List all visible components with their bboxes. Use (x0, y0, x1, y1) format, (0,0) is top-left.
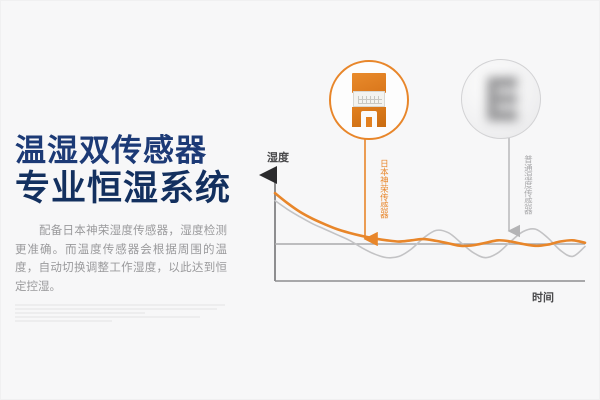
fineprint-line (15, 308, 217, 310)
fineprint-line (15, 316, 200, 318)
headline-line-1: 温湿双传感器 (15, 135, 253, 168)
sensor-photo-bubble (329, 60, 409, 140)
series-line-shinyei-sensor (275, 193, 585, 246)
pcb-top-section (352, 73, 386, 93)
poster-canvas: 温湿双传感器 专业恒湿系统 配备日本神荣湿度传感器，湿度检测更准确。而温度传感器… (0, 0, 600, 400)
x-axis-label: 时间 (532, 289, 554, 305)
ordinary-sensor-bubble (461, 59, 541, 139)
sensor-grid-icon (358, 96, 382, 104)
callout-label-ordinary-sensor: 普通湿度传感器 (523, 155, 533, 215)
humidity-chart: 湿度 时间 日本神荣传感器 普通湿度传感器 (253, 41, 597, 341)
shinyei-sensor-photo (352, 73, 386, 127)
fineprint-line (15, 304, 225, 306)
body-paragraph-text: 配备日本神荣湿度传感器，湿度检测更准确。而温度传感器会根据周围的温度，自动切换调… (15, 225, 227, 293)
series-line-ordinary-sensor (275, 201, 585, 258)
pcb-bottom-section (352, 107, 386, 127)
fineprint-block (15, 304, 225, 322)
ordinary-sensor-photo (487, 77, 517, 121)
fineprint-line (15, 320, 112, 322)
fineprint-line (15, 312, 145, 314)
marketing-copy-block: 温湿双传感器 专业恒湿系统 配备日本神荣湿度传感器，湿度检测更准确。而温度传感器… (15, 135, 253, 324)
y-axis-label: 湿度 (267, 149, 289, 165)
body-paragraph: 配备日本神荣湿度传感器，湿度检测更准确。而温度传感器会根据周围的温度，自动切换调… (15, 222, 227, 297)
pcb-sensor-mesh (353, 91, 385, 107)
pcb-connector-icon (361, 111, 377, 127)
headline-line-2: 专业恒湿系统 (15, 170, 253, 209)
callout-label-shinyei-sensor: 日本神荣传感器 (379, 159, 389, 219)
